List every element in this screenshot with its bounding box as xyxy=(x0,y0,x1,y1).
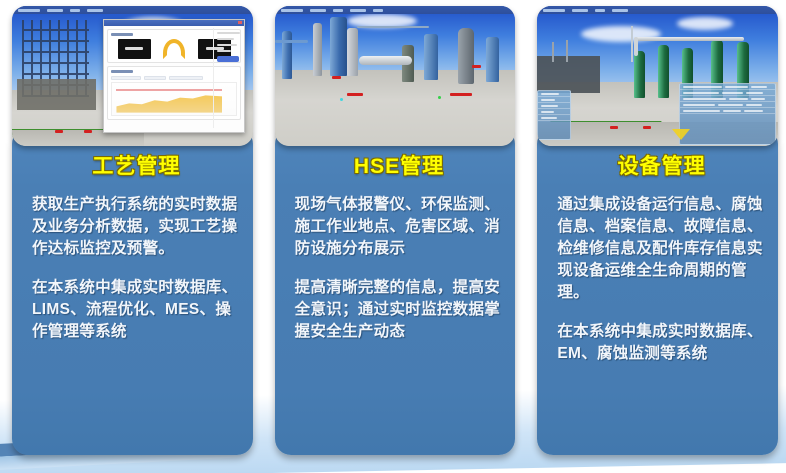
hse-plant-3d-view[interactable] xyxy=(275,6,516,146)
side-panel-line xyxy=(217,44,237,46)
process-dashboard-screenshot[interactable] xyxy=(12,6,253,146)
stack xyxy=(552,42,554,62)
toolbar-item xyxy=(47,9,63,12)
vessel xyxy=(486,37,499,82)
equipment-list-panel[interactable] xyxy=(537,90,571,140)
module-card-process-management[interactable]: 工艺管理 获取生产执行系统的实时数据及业务分析数据，实现工艺操作达标监控及预警。… xyxy=(12,6,253,455)
card-paragraph: 在本系统中集成实时数据库、EM、腐蚀监测等系统 xyxy=(557,321,766,365)
toolbar-item xyxy=(281,9,303,12)
kpi-tile xyxy=(118,39,151,59)
overhead-pipe xyxy=(634,37,745,41)
green-vessel xyxy=(658,45,669,98)
alarm-label xyxy=(450,93,472,96)
pipe-rack xyxy=(275,40,309,43)
equipment-plant-3d-view[interactable] xyxy=(537,6,778,146)
equipment-label xyxy=(84,130,92,133)
card-paragraph: 通过集成设备运行信息、腐蚀信息、档案信息、故障信息、检维修信息及配件库存信息实现… xyxy=(557,194,766,304)
close-icon[interactable] xyxy=(238,21,242,24)
data-row xyxy=(680,108,774,114)
horizontal-pipe xyxy=(359,56,412,65)
window-title-bar xyxy=(104,20,244,26)
card-body-process-management: 获取生产执行系统的实时数据及业务分析数据，实现工艺操作达标监控及预警。 在本系统… xyxy=(32,194,241,343)
equipment-label xyxy=(643,126,651,129)
process-management-panel: 工艺管理 获取生产执行系统的实时数据及业务分析数据，实现工艺操作达标监控及预警。… xyxy=(12,128,253,455)
gauge-icon xyxy=(163,39,185,59)
toolbar-item xyxy=(543,9,565,12)
threshold-line xyxy=(116,89,222,91)
plant-background-scene xyxy=(275,6,516,146)
card-paragraph: 获取生产执行系统的实时数据及业务分析数据，实现工艺操作达标监控及预警。 xyxy=(32,194,241,260)
module-card-row: 工艺管理 获取生产执行系统的实时数据及业务分析数据，实现工艺操作达标监控及预警。… xyxy=(0,0,786,473)
equipment-label xyxy=(610,126,618,129)
vessel xyxy=(458,28,474,84)
module-card-hse-management[interactable]: HSE管理 现场气体报警仪、环保监测、施工作业地点、危害区域、消防设施分布展示 … xyxy=(275,6,516,455)
vessel xyxy=(347,28,358,76)
side-panel-button[interactable] xyxy=(217,56,239,62)
building-block xyxy=(537,56,600,92)
module-card-equipment-management[interactable]: 设备管理 通过集成设备运行信息、腐蚀信息、档案信息、故障信息、检维修信息及配件库… xyxy=(537,6,778,455)
filter-chip[interactable] xyxy=(111,76,141,80)
section-caption xyxy=(111,33,133,36)
toolbar-item xyxy=(310,9,326,12)
filter-chip[interactable] xyxy=(169,76,203,80)
side-panel-line xyxy=(217,50,231,52)
card-title-equipment-management: 设备管理 xyxy=(557,150,766,180)
browser-toolbar xyxy=(537,6,778,14)
card-paragraph: 提高清晰完整的信息，提高安全意识；通过实时监控数据掌握安全生产动态 xyxy=(295,277,504,343)
building-block xyxy=(17,79,96,110)
toolbar-item xyxy=(612,9,628,12)
stack xyxy=(566,40,568,62)
toolbar-item xyxy=(87,9,103,12)
selection-marker-icon xyxy=(672,129,690,140)
equipment-label xyxy=(55,130,63,133)
equipment-management-panel: 设备管理 通过集成设备运行信息、腐蚀信息、档案信息、故障信息、检维修信息及配件库… xyxy=(537,128,778,455)
section-caption xyxy=(111,70,133,73)
equipment-data-panel[interactable] xyxy=(679,83,775,145)
plant-background-scene xyxy=(537,6,778,146)
vessel xyxy=(313,23,322,76)
vessel xyxy=(424,34,438,80)
card-paragraph: 在本系统中集成实时数据库、LIMS、流程优化、MES、操作管理等系统 xyxy=(32,277,241,343)
pipe-rack xyxy=(357,26,429,28)
ground xyxy=(275,70,516,146)
card-body-hse-management: 现场气体报警仪、环保监测、施工作业地点、危害区域、消防设施分布展示 提高清晰完整… xyxy=(295,194,504,343)
dashboard-window[interactable] xyxy=(103,19,245,134)
toolbar-item xyxy=(333,9,343,12)
side-panel-line xyxy=(217,32,240,34)
alarm-label xyxy=(332,76,341,79)
card-title-process-management: 工艺管理 xyxy=(32,150,241,180)
card-body-equipment-management: 通过集成设备运行信息、腐蚀信息、档案信息、故障信息、检维修信息及配件库存信息实现… xyxy=(557,194,766,365)
card-paragraph: 现场气体报警仪、环保监测、施工作业地点、危害区域、消防设施分布展示 xyxy=(295,194,504,260)
list-row xyxy=(538,115,570,121)
side-panel-line xyxy=(217,38,234,40)
toolbar-item xyxy=(373,9,383,12)
pipe-riser xyxy=(634,37,638,57)
browser-toolbar xyxy=(12,6,253,14)
vessel xyxy=(330,17,347,76)
alarm-label xyxy=(347,93,363,96)
vessel xyxy=(282,31,292,79)
toolbar-item xyxy=(350,9,366,12)
stack xyxy=(631,26,633,62)
browser-toolbar xyxy=(275,6,516,14)
alarm-label xyxy=(472,65,481,68)
toolbar-item xyxy=(572,9,588,12)
hse-management-panel: HSE管理 现场气体报警仪、环保监测、施工作业地点、危害区域、消防设施分布展示 … xyxy=(275,128,516,455)
toolbar-item xyxy=(70,9,80,12)
filter-chip[interactable] xyxy=(144,76,166,80)
toolbar-item xyxy=(595,9,605,12)
card-title-hse-management: HSE管理 xyxy=(295,150,504,180)
green-vessel xyxy=(634,51,645,99)
side-panel xyxy=(213,28,242,129)
toolbar-item xyxy=(18,9,40,12)
area-series xyxy=(116,91,222,113)
